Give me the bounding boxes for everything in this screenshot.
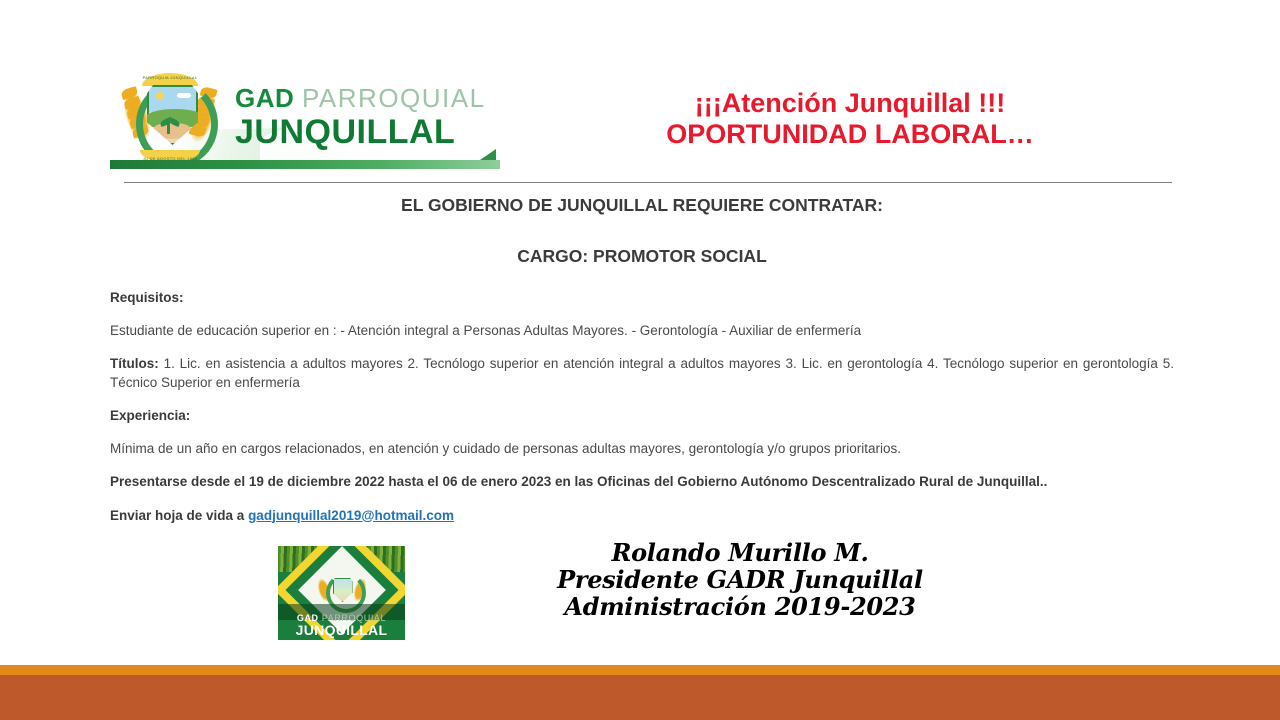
announcement-body: EL GOBIERNO DE JUNQUILLAL REQUIERE CONTR… [110, 190, 1174, 525]
logo-word-gad: GAD [235, 83, 294, 113]
headline-line-2: OPORTUNIDAD LABORAL… [520, 119, 1180, 150]
signature-block: Rolando Murillo M. Presidente GADR Junqu… [440, 540, 1040, 621]
experiencia-label: Experiencia: [110, 407, 1174, 425]
signature-period: Administración 2019-2023 [440, 594, 1040, 621]
requisitos-text: Estudiante de educación superior en : - … [110, 322, 1174, 340]
logo-word-parroquial: PARROQUIAL [302, 83, 486, 113]
crest-cloud-icon [177, 93, 191, 98]
crest-sun-icon [156, 92, 164, 100]
logo-wordmark: GAD PARROQUIAL JUNQUILLAL [235, 85, 486, 149]
gad-parroquial-logo-banner: PARROQUIA JUNQUILLAL JU DE AGOSTO DEL 19… [110, 67, 500, 169]
crest-top-motto: PARROQUIA JUNQUILLAL [122, 75, 218, 80]
signature-name: Rolando Murillo M. [440, 540, 1040, 567]
crest-sky [149, 87, 196, 112]
enviar-hoja-line: Enviar hoja de vida a gadjunquillal2019@… [110, 507, 1174, 525]
signature-area: GAD PARROQUIAL JUNQUILLAL Rolando Murill… [0, 540, 1280, 650]
badge-wordmark: GAD PARROQUIAL JUNQUILLAL [278, 614, 405, 638]
experiencia-text: Mínima de un año en cargos relacionados,… [110, 440, 1174, 458]
position-line: CARGO: PROMOTOR SOCIAL [110, 246, 1174, 267]
header: PARROQUIA JUNQUILLAL JU DE AGOSTO DEL 19… [0, 0, 1280, 182]
titulos-paragraph: Títulos: 1. Lic. en asistencia a adultos… [110, 355, 1174, 391]
banner-green-bar [110, 160, 500, 169]
footer-accent-bar [0, 665, 1280, 675]
headline-line-1: ¡¡¡Atención Junquillal !!! [520, 88, 1180, 119]
titulos-label: Títulos: [110, 356, 159, 371]
footer-bar [0, 675, 1280, 720]
header-divider [124, 182, 1172, 183]
headline: ¡¡¡Atención Junquillal !!! OPORTUNIDAD L… [520, 88, 1180, 151]
enviar-label: Enviar hoja de vida a [110, 508, 248, 523]
email-link[interactable]: gadjunquillal2019@hotmail.com [248, 508, 454, 523]
titulos-text: 1. Lic. en asistencia a adultos mayores … [110, 356, 1174, 389]
presentarse-text: Presentarse desde el 19 de diciembre 202… [110, 473, 1174, 491]
logo-wordmark-line-1: GAD PARROQUIAL [235, 85, 486, 111]
gad-badge-image: GAD PARROQUIAL JUNQUILLAL [278, 546, 405, 640]
requisitos-label: Requisitos: [110, 289, 1174, 307]
logo-word-junquillal: JUNQUILLAL [235, 115, 486, 149]
org-requirement-line: EL GOBIERNO DE JUNQUILLAL REQUIERE CONTR… [110, 195, 1174, 216]
banner-green-tick [480, 149, 496, 160]
municipal-crest-icon: PARROQUIA JUNQUILLAL JU DE AGOSTO DEL 19… [122, 71, 218, 163]
signature-title: Presidente GADR Junquillal [440, 567, 1040, 594]
badge-word-junquillal: JUNQUILLAL [278, 623, 405, 638]
